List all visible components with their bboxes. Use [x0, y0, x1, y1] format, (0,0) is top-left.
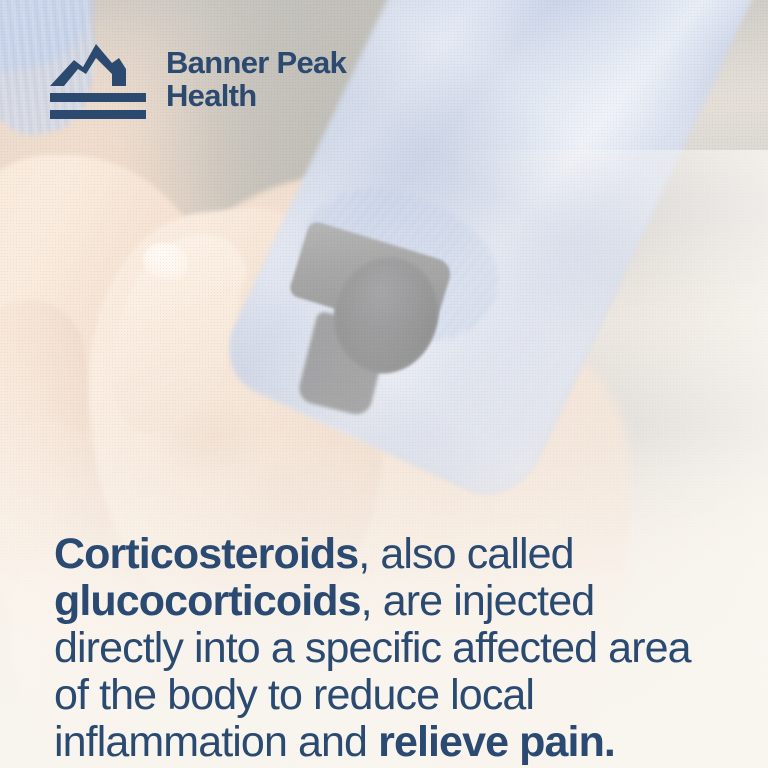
mountain-peak-logo-icon [48, 36, 148, 124]
brand-logo[interactable]: Banner Peak Health [48, 36, 346, 124]
copy-bold-relieve-pain: relieve pain. [378, 718, 615, 766]
social-post-card: Banner Peak Health Corticosteroids, also… [0, 0, 768, 768]
copy-bold-corticosteroids: Corticosteroids [54, 530, 358, 578]
body-copy: Corticosteroids, also called glucocortic… [54, 531, 714, 766]
brand-name: Banner Peak Health [166, 47, 346, 113]
copy-bold-glucocorticoids: glucocorticoids [54, 577, 361, 625]
copy-text-also-called: , also called [358, 530, 573, 578]
